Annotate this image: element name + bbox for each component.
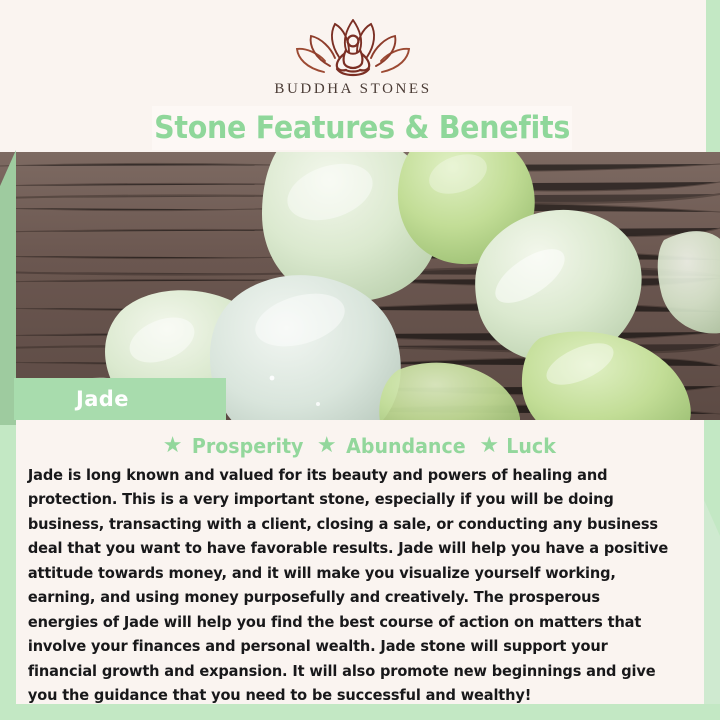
benefit-label: Luck xyxy=(506,434,556,458)
description-paragraph: Jade is long known and valued for its be… xyxy=(24,463,672,707)
benefit-label: Abundance xyxy=(346,434,465,458)
lotus-meditation-icon xyxy=(294,16,412,78)
page-title: Stone Features & Benefits xyxy=(154,110,570,146)
title-banner: Stone Features & Benefits xyxy=(152,106,572,150)
star-icon: ★ xyxy=(317,434,337,456)
stone-name-label: Jade xyxy=(76,387,129,411)
brand-logo: BUDDHA STONES xyxy=(0,16,706,98)
body-panel: ★ Prosperity ★ Abundance ★ Luck Jade is … xyxy=(16,420,704,704)
benefit-item: ★ Luck xyxy=(479,434,557,458)
benefits-row: ★ Prosperity ★ Abundance ★ Luck xyxy=(24,434,696,458)
star-icon: ★ xyxy=(163,434,183,456)
benefit-item: ★ Prosperity xyxy=(163,434,306,458)
benefit-item: ★ Abundance xyxy=(317,434,468,458)
star-icon: ★ xyxy=(479,434,499,456)
stone-name-banner: Jade xyxy=(14,378,226,420)
infographic-page: BUDDHA STONES Stone Features & Benefits xyxy=(0,0,720,720)
brand-wordmark: BUDDHA STONES xyxy=(274,81,431,98)
benefit-label: Prosperity xyxy=(191,434,303,458)
header: BUDDHA STONES Stone Features & Benefits xyxy=(0,0,706,152)
decorative-band-left-body xyxy=(0,420,16,720)
